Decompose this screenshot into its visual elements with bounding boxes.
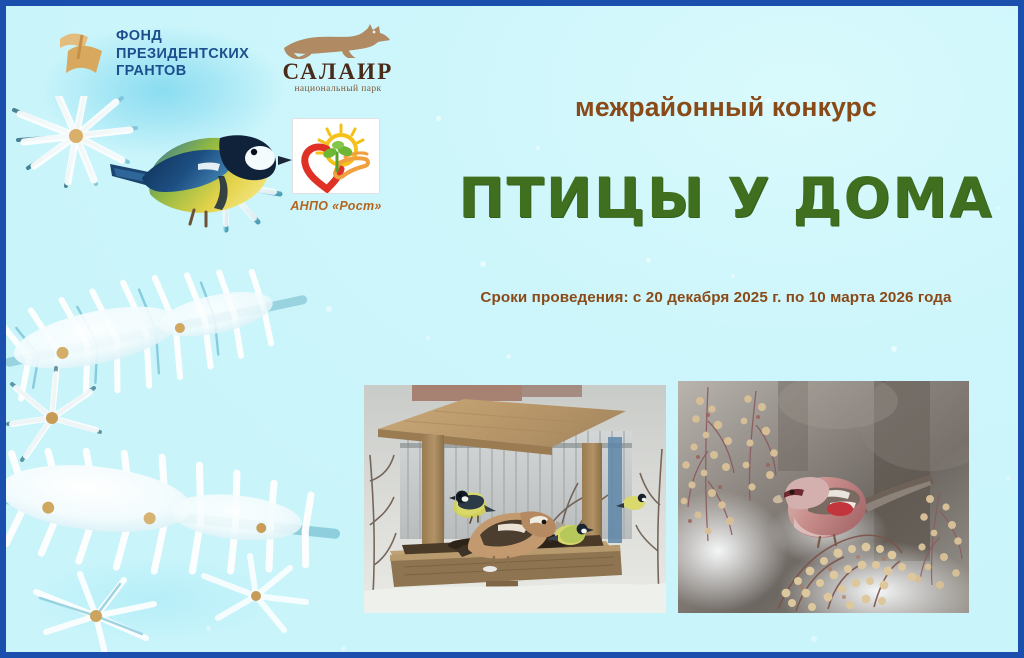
sun-heart-hand-sprout-icon [292, 118, 380, 194]
wooden-bird-feeder-photo [364, 385, 666, 613]
salair-national-park-logo: САЛАИР национальный парк [274, 22, 402, 94]
anpo-rost-logo: АНПО «Рост» [289, 118, 383, 213]
salair-subtitle: национальный парк [274, 84, 402, 94]
salair-name: САЛАИР [274, 60, 402, 83]
great-tit-bird-illustration [102, 106, 292, 241]
anpo-rost-caption: АНПО «Рост» [289, 199, 383, 213]
presidential-grants-fund-logo: ФОНД ПРЕЗИДЕНТСКИХ ГРАНТОВ [58, 28, 249, 81]
presidential-grants-flag-icon [58, 29, 106, 81]
kicker-text: межрайонный конкурс [426, 92, 1024, 123]
leaping-lynx-icon [274, 22, 402, 62]
long-tailed-rosefinch-photo [678, 381, 969, 613]
contest-dates: Сроки проведения: с 20 декабря 2025 г. п… [416, 289, 1016, 306]
page-title: ПТИЦЫ У ДОМА [426, 171, 1024, 226]
presidential-grants-fund-label: ФОНД ПРЕЗИДЕНТСКИХ ГРАНТОВ [116, 28, 249, 81]
poster-canvas: ФОНД ПРЕЗИДЕНТСКИХ ГРАНТОВ САЛАИР национ… [0, 0, 1024, 658]
